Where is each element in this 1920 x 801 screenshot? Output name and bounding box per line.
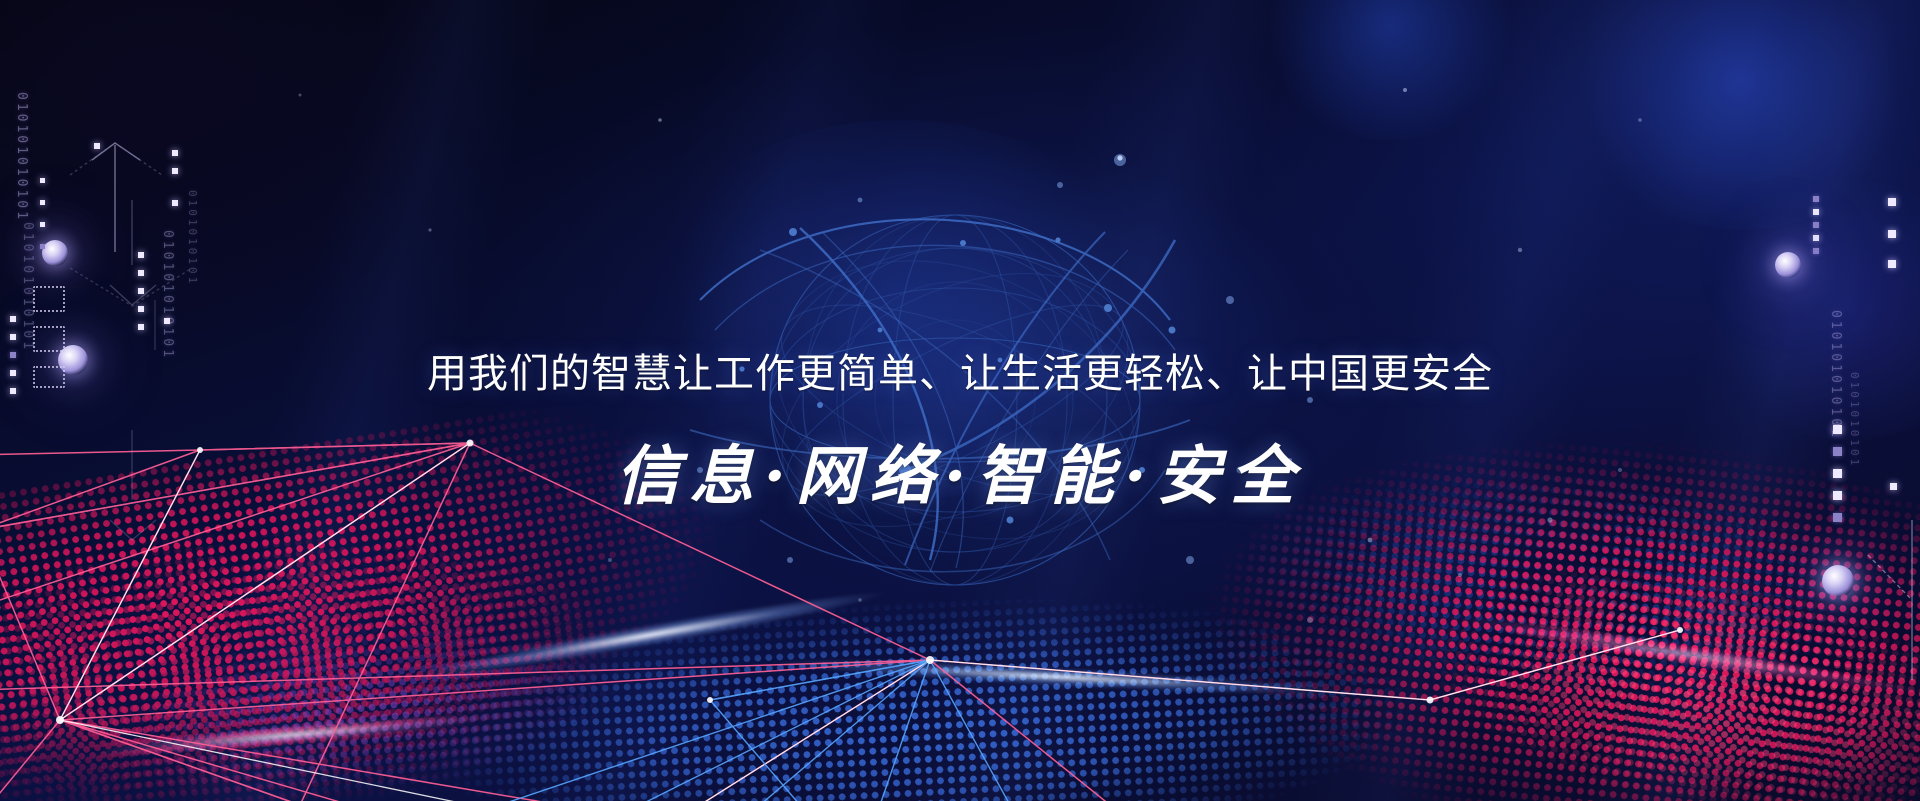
slogan-text: 信息·网络·智能·安全 [0, 425, 1920, 517]
banner-stage: 010101010101 010101010101 010101010101 0… [0, 0, 1920, 801]
headline-text: 用我们的智慧让工作更简单、让生活更轻松、让中国更安全 [0, 352, 1920, 396]
background-diagonal-streaks [0, 0, 1920, 801]
